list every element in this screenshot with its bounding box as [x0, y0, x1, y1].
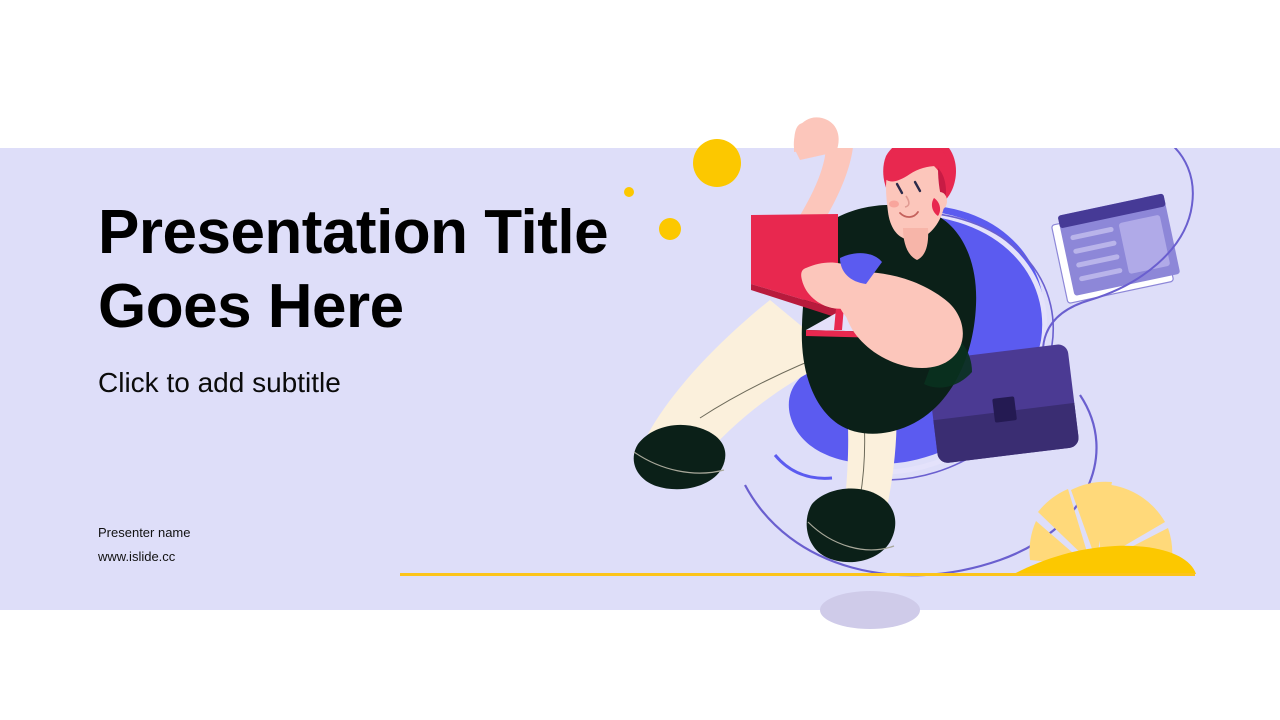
website-url[interactable]: www.islide.cc [98, 545, 418, 569]
title-block: Presentation Title Goes Here Click to ad… [98, 196, 658, 400]
page-title[interactable]: Presentation Title Goes Here [98, 196, 658, 344]
presenter-name[interactable]: Presenter name [98, 521, 418, 545]
gold-divider-line [400, 573, 1195, 576]
slide-canvas: Presentation Title Goes Here Click to ad… [0, 0, 1280, 720]
footer-block: Presenter name www.islide.cc [98, 521, 418, 569]
subtitle-placeholder[interactable]: Click to add subtitle [98, 344, 658, 400]
